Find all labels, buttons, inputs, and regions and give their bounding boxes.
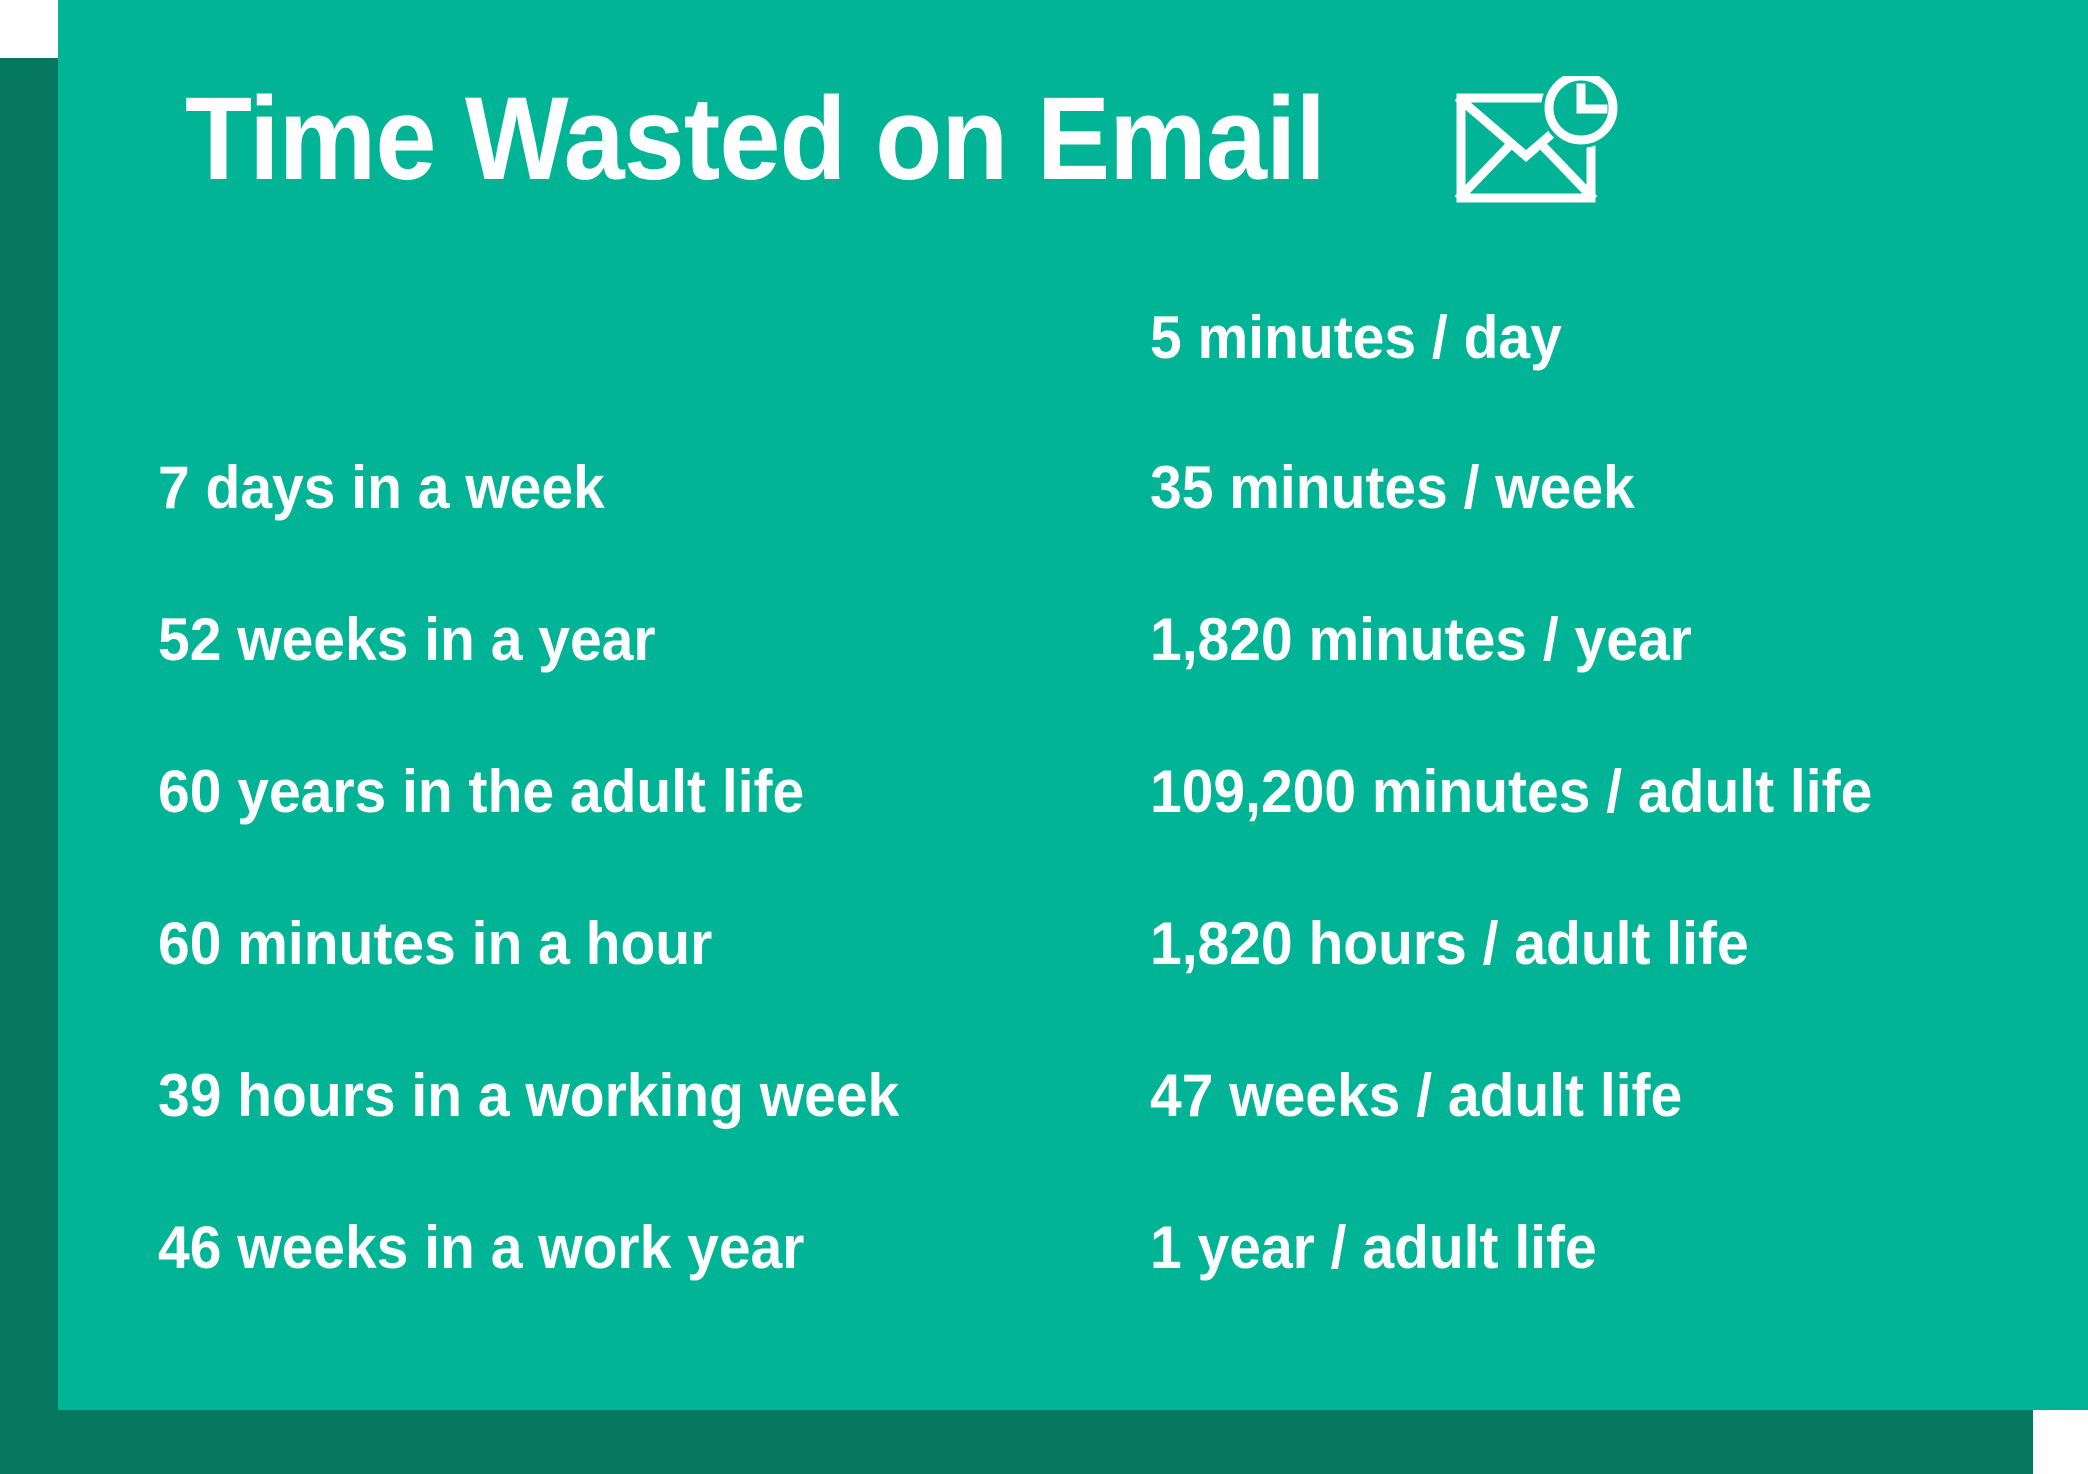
fact-value: 1,820 hours / adult life bbox=[1150, 914, 1749, 974]
fact-value: 5 minutes / day bbox=[1150, 308, 1562, 368]
fact-row: 7 days in a week 35 minutes / week bbox=[58, 446, 2088, 530]
content-panel: Time Wasted on Email 5 minutes / bbox=[58, 0, 2088, 1410]
fact-unit: 52 weeks in a year bbox=[158, 610, 656, 670]
panel-shadow-left bbox=[0, 58, 58, 1474]
slide-canvas: Time Wasted on Email 5 minutes / bbox=[0, 0, 2088, 1474]
fact-value: 47 weeks / adult life bbox=[1150, 1066, 1682, 1126]
fact-value: 1 year / adult life bbox=[1150, 1218, 1597, 1278]
fact-unit: 60 years in the adult life bbox=[158, 762, 804, 822]
fact-unit: 46 weeks in a work year bbox=[158, 1218, 804, 1278]
fact-value: 109,200 minutes / adult life bbox=[1150, 762, 1872, 822]
fact-row: 52 weeks in a year 1,820 minutes / year bbox=[58, 598, 2088, 682]
fact-value: 35 minutes / week bbox=[1150, 458, 1635, 518]
fact-row: 60 years in the adult life 109,200 minut… bbox=[58, 750, 2088, 834]
facts-grid: 5 minutes / day 7 days in a week 35 minu… bbox=[58, 0, 2088, 1410]
fact-value: 1,820 minutes / year bbox=[1150, 610, 1692, 670]
fact-row: 39 hours in a working week 47 weeks / ad… bbox=[58, 1054, 2088, 1138]
fact-unit: 60 minutes in a hour bbox=[158, 914, 712, 974]
fact-row: 60 minutes in a hour 1,820 hours / adult… bbox=[58, 902, 2088, 986]
panel-shadow-bottom bbox=[0, 1410, 2033, 1474]
fact-row: 5 minutes / day bbox=[58, 296, 2088, 380]
fact-unit: 39 hours in a working week bbox=[158, 1066, 899, 1126]
fact-unit: 7 days in a week bbox=[158, 458, 605, 518]
fact-row: 46 weeks in a work year 1 year / adult l… bbox=[58, 1206, 2088, 1290]
